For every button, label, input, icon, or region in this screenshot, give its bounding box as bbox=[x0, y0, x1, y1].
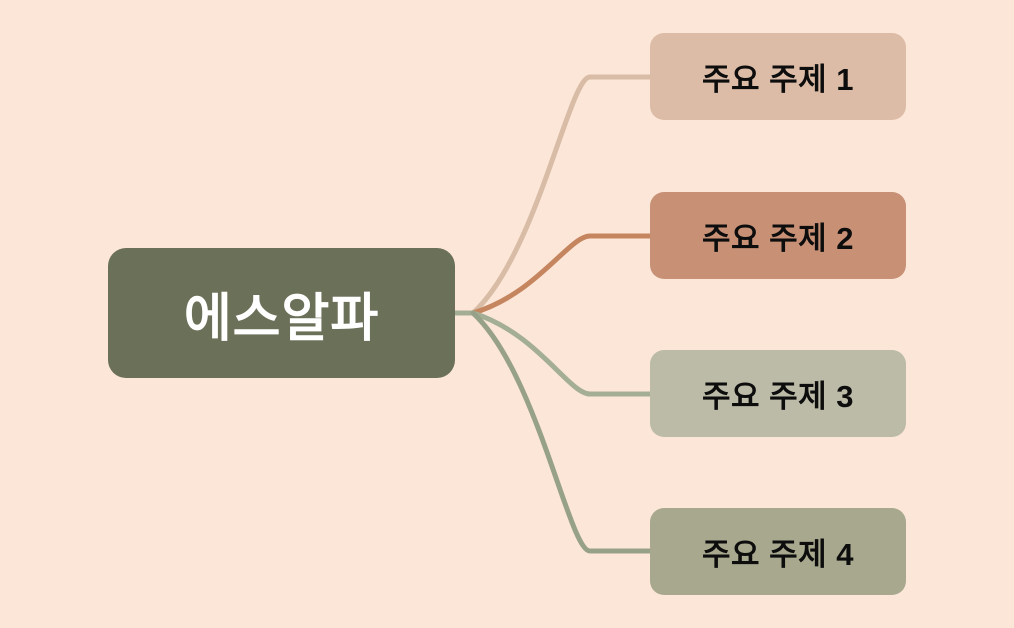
branch-node-label: 주요 주제 2 bbox=[702, 213, 854, 258]
mindmap-root-node[interactable]: 에스알파 bbox=[108, 248, 455, 378]
branch-node-label: 주요 주제 3 bbox=[702, 371, 854, 416]
mindmap-branch-node-topic-4[interactable]: 주요 주제 4 bbox=[650, 508, 906, 595]
connector-to-topic-2 bbox=[473, 236, 650, 313]
connector-to-topic-1 bbox=[473, 77, 650, 313]
connector-to-topic-4 bbox=[473, 313, 650, 551]
mindmap-branch-node-topic-3[interactable]: 주요 주제 3 bbox=[650, 350, 906, 437]
branch-node-label: 주요 주제 4 bbox=[702, 529, 854, 574]
mindmap-branch-node-topic-2[interactable]: 주요 주제 2 bbox=[650, 192, 906, 279]
mindmap-canvas: 에스알파 주요 주제 1 주요 주제 2 주요 주제 3 주요 주제 4 bbox=[0, 0, 1014, 628]
mindmap-branch-node-topic-1[interactable]: 주요 주제 1 bbox=[650, 33, 906, 120]
branch-node-label: 주요 주제 1 bbox=[702, 54, 854, 99]
connector-to-topic-3 bbox=[473, 313, 650, 394]
root-node-label: 에스알파 bbox=[184, 276, 379, 351]
